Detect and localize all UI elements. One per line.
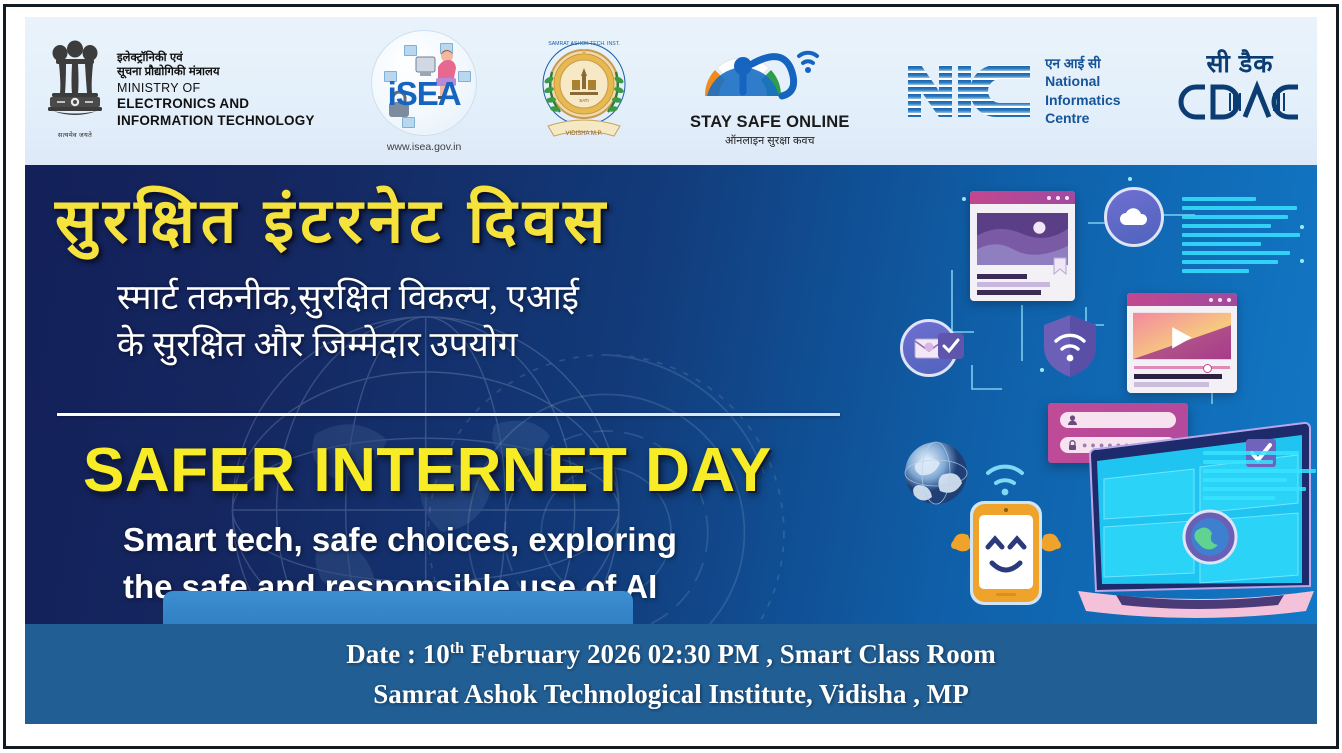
nic-english-line1: National — [1045, 72, 1120, 90]
stay-safe-online-english: STAY SAFE ONLINE — [690, 113, 850, 132]
bookmark-icon — [1053, 257, 1067, 275]
headline-column: सुरक्षित इंटरनेट दिवस स्मार्ट तकनीक,सुरक… — [45, 165, 850, 625]
meity-english-line3: INFORMATION TECHNOLOGY — [117, 113, 315, 130]
cloud-badge — [1104, 187, 1164, 247]
event-date-ordinal: th — [450, 640, 464, 657]
logo-isea: iSEA www.isea.gov.in — [371, 30, 477, 153]
ashoka-emblem-icon: सत्यमेव जयते — [43, 37, 107, 145]
svg-text:SATI: SATI — [579, 98, 588, 103]
meity-hindi-line2: सूचना प्रौद्योगिकी मंत्रालय — [117, 66, 315, 80]
poster-root: सत्यमेव जयते इलेक्ट्रॉनिकी एवं सूचना प्र… — [0, 0, 1342, 753]
laptop-device — [1068, 409, 1317, 619]
shield-wifi-badge — [1042, 313, 1098, 379]
event-date-line: Date : 10th February 2026 02:30 PM , Sma… — [346, 634, 995, 675]
meity-english-line2: ELECTRONICS AND — [117, 96, 315, 113]
hindi-subtitle-line1: स्मार्ट तकनीक,सुरक्षित विकल्प, एआई — [117, 275, 830, 322]
section-divider — [57, 413, 840, 416]
hindi-subtitle-line2: के सुरक्षित और जिम्मेदार उपयोग — [117, 322, 830, 369]
logo-meity: सत्यमेव जयते इलेक्ट्रॉनिकी एवं सूचना प्र… — [43, 37, 315, 145]
nic-english-line3: Centre — [1045, 109, 1120, 127]
logo-sati-crest: SATI — [534, 32, 634, 150]
isea-url: www.isea.gov.in — [387, 141, 462, 153]
isea-wordmark: iSEA — [372, 75, 476, 113]
window-title-bar — [1127, 293, 1237, 306]
event-date-suffix: February 2026 02:30 PM , Smart Class Roo… — [464, 639, 996, 669]
header-logo-band: सत्यमेव जयते इलेक्ट्रॉनिकी एवं सूचना प्र… — [25, 17, 1317, 165]
cdac-hindi: सी डैक — [1207, 52, 1274, 77]
meity-english-line1: MINISTRY OF — [117, 81, 315, 96]
event-details-banner: Date : 10th February 2026 02:30 PM , Sma… — [25, 624, 1317, 724]
bottom-white-strip — [25, 724, 1317, 737]
main-banner: सुरक्षित इंटरनेट दिवस स्मार्ट तकनीक,सुरक… — [25, 165, 1317, 625]
event-date-prefix: Date : 10 — [346, 639, 449, 669]
check-badge-icon — [938, 333, 964, 359]
nic-text-block: एन आई सी National Informatics Centre — [1045, 55, 1120, 127]
event-venue-line: Samrat Ashok Technological Institute, Vi… — [373, 674, 969, 715]
smartphone-mascot — [946, 445, 1066, 605]
video-player-window — [1127, 293, 1237, 393]
logo-nic: एन आई सी National Informatics Centre — [906, 55, 1120, 127]
meity-hindi-line1: इलेक्ट्रॉनिकी एवं — [117, 52, 315, 66]
decorative-blue-plate — [163, 591, 633, 625]
hindi-title: सुरक्षित इंटरनेट दिवस — [55, 177, 611, 261]
logo-cdac: सी डैक — [1177, 52, 1303, 130]
stay-safe-online-hindi: ऑनलाइन सुरक्षा कवच — [725, 133, 815, 148]
browser-window-image-card — [970, 191, 1075, 301]
logo-stay-safe-online: STAY SAFE ONLINE ऑनलाइन सुरक्षा कवच — [690, 34, 850, 148]
window-title-bar — [970, 191, 1075, 204]
cdac-wordmark-icon — [1177, 79, 1303, 130]
stay-safe-online-icon — [695, 34, 845, 112]
nic-english-line2: Informatics — [1045, 91, 1120, 109]
nic-wordmark-icon — [906, 59, 1034, 123]
hindi-subtitle: स्मार्ट तकनीक,सुरक्षित विकल्प, एआई के सु… — [117, 275, 830, 369]
nic-hindi: एन आई सी — [1045, 55, 1120, 73]
emblem-motto: सत्यमेव जयते — [43, 130, 107, 139]
illustration-group: ●●●●●●● — [882, 165, 1317, 625]
sati-ring-text: SAMRAT ASHOK TECH. INST. — [548, 41, 619, 47]
sati-ribbon-text: VIDISHA M.P. — [565, 131, 602, 137]
video-thumbnail — [1133, 310, 1231, 362]
isea-circle-icon: iSEA — [371, 30, 477, 136]
english-subtitle-line1: Smart tech, safe choices, exploring — [123, 517, 810, 564]
english-title: SAFER INTERNET DAY — [83, 435, 772, 506]
poster-inner: सत्यमेव जयते इलेक्ट्रॉनिकी एवं सूचना प्र… — [10, 8, 1332, 743]
meity-text-block: इलेक्ट्रॉनिकी एवं सूचना प्रौद्योगिकी मंत… — [117, 52, 315, 130]
video-progress-and-text — [1127, 362, 1237, 391]
cloud-icon — [1119, 207, 1149, 227]
